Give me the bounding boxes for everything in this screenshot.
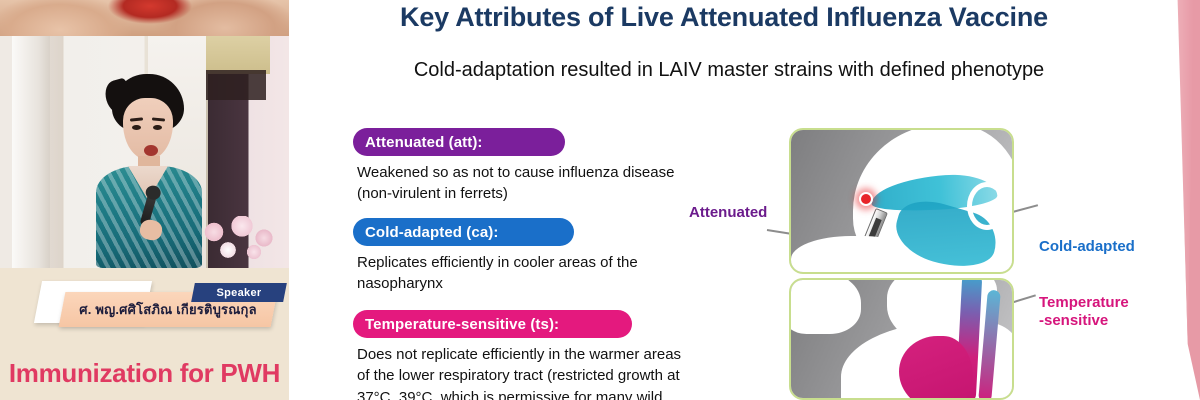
- speaker-eye-left: [132, 125, 141, 130]
- lung-highlight: [899, 336, 973, 400]
- attribute-text-temperature-sensitive: Does not replicate efficiently in the wa…: [357, 344, 735, 400]
- video-panel[interactable]: ศ. พญ.ศศิโสภิณ เกียรติบูรณกุล Speaker Im…: [0, 0, 289, 400]
- session-title: Immunization for PWH: [0, 352, 289, 394]
- speaker-mouth: [144, 145, 158, 156]
- slide-title: Key Attributes of Live Attenuated Influe…: [299, 2, 1149, 33]
- attribute-text-attenuated: Weakened so as not to cause influenza di…: [357, 162, 735, 205]
- scene-wood-panel: [200, 36, 270, 74]
- screenshot-root: ศ. พญ.ศศิโสภิณ เกียรติบูรณกุล Speaker Im…: [0, 0, 1200, 400]
- callout-cold-adapted: Cold-adapted: [1039, 238, 1135, 256]
- presentation-slide: Key Attributes of Live Attenuated Influe…: [289, 0, 1200, 400]
- attribute-pill-attenuated: Attenuated (att):: [353, 128, 565, 156]
- video-frame-top-hands: [0, 0, 289, 36]
- slide-subtitle: Cold-adaptation resulted in LAIV master …: [299, 58, 1159, 82]
- ear-icon: [967, 182, 1007, 230]
- diagram-lower-respiratory: [789, 278, 1014, 400]
- scene-flower-bouquet: [196, 216, 280, 270]
- callout-temperature-sensitive: Temperature -sensitive: [1039, 294, 1129, 330]
- injection-site-marker: [859, 192, 873, 206]
- hand-silhouette: [789, 278, 861, 334]
- diagram-upper-respiratory: [789, 128, 1014, 274]
- speaker-badge-label: Speaker: [193, 283, 285, 302]
- callout-attenuated: Attenuated: [689, 204, 767, 222]
- shoulder-silhouette: [791, 236, 911, 274]
- speaker-figure: [92, 74, 204, 268]
- speaker-eye-right: [153, 125, 162, 130]
- scene-pillar: [12, 36, 50, 268]
- scene-dark-shelf: [206, 70, 266, 100]
- attribute-text-cold-adapted: Replicates efficiently in cooler areas o…: [357, 252, 735, 295]
- attribute-pill-cold-adapted: Cold-adapted (ca):: [353, 218, 574, 246]
- attribute-pill-temperature-sensitive: Temperature-sensitive (ts):: [353, 310, 632, 338]
